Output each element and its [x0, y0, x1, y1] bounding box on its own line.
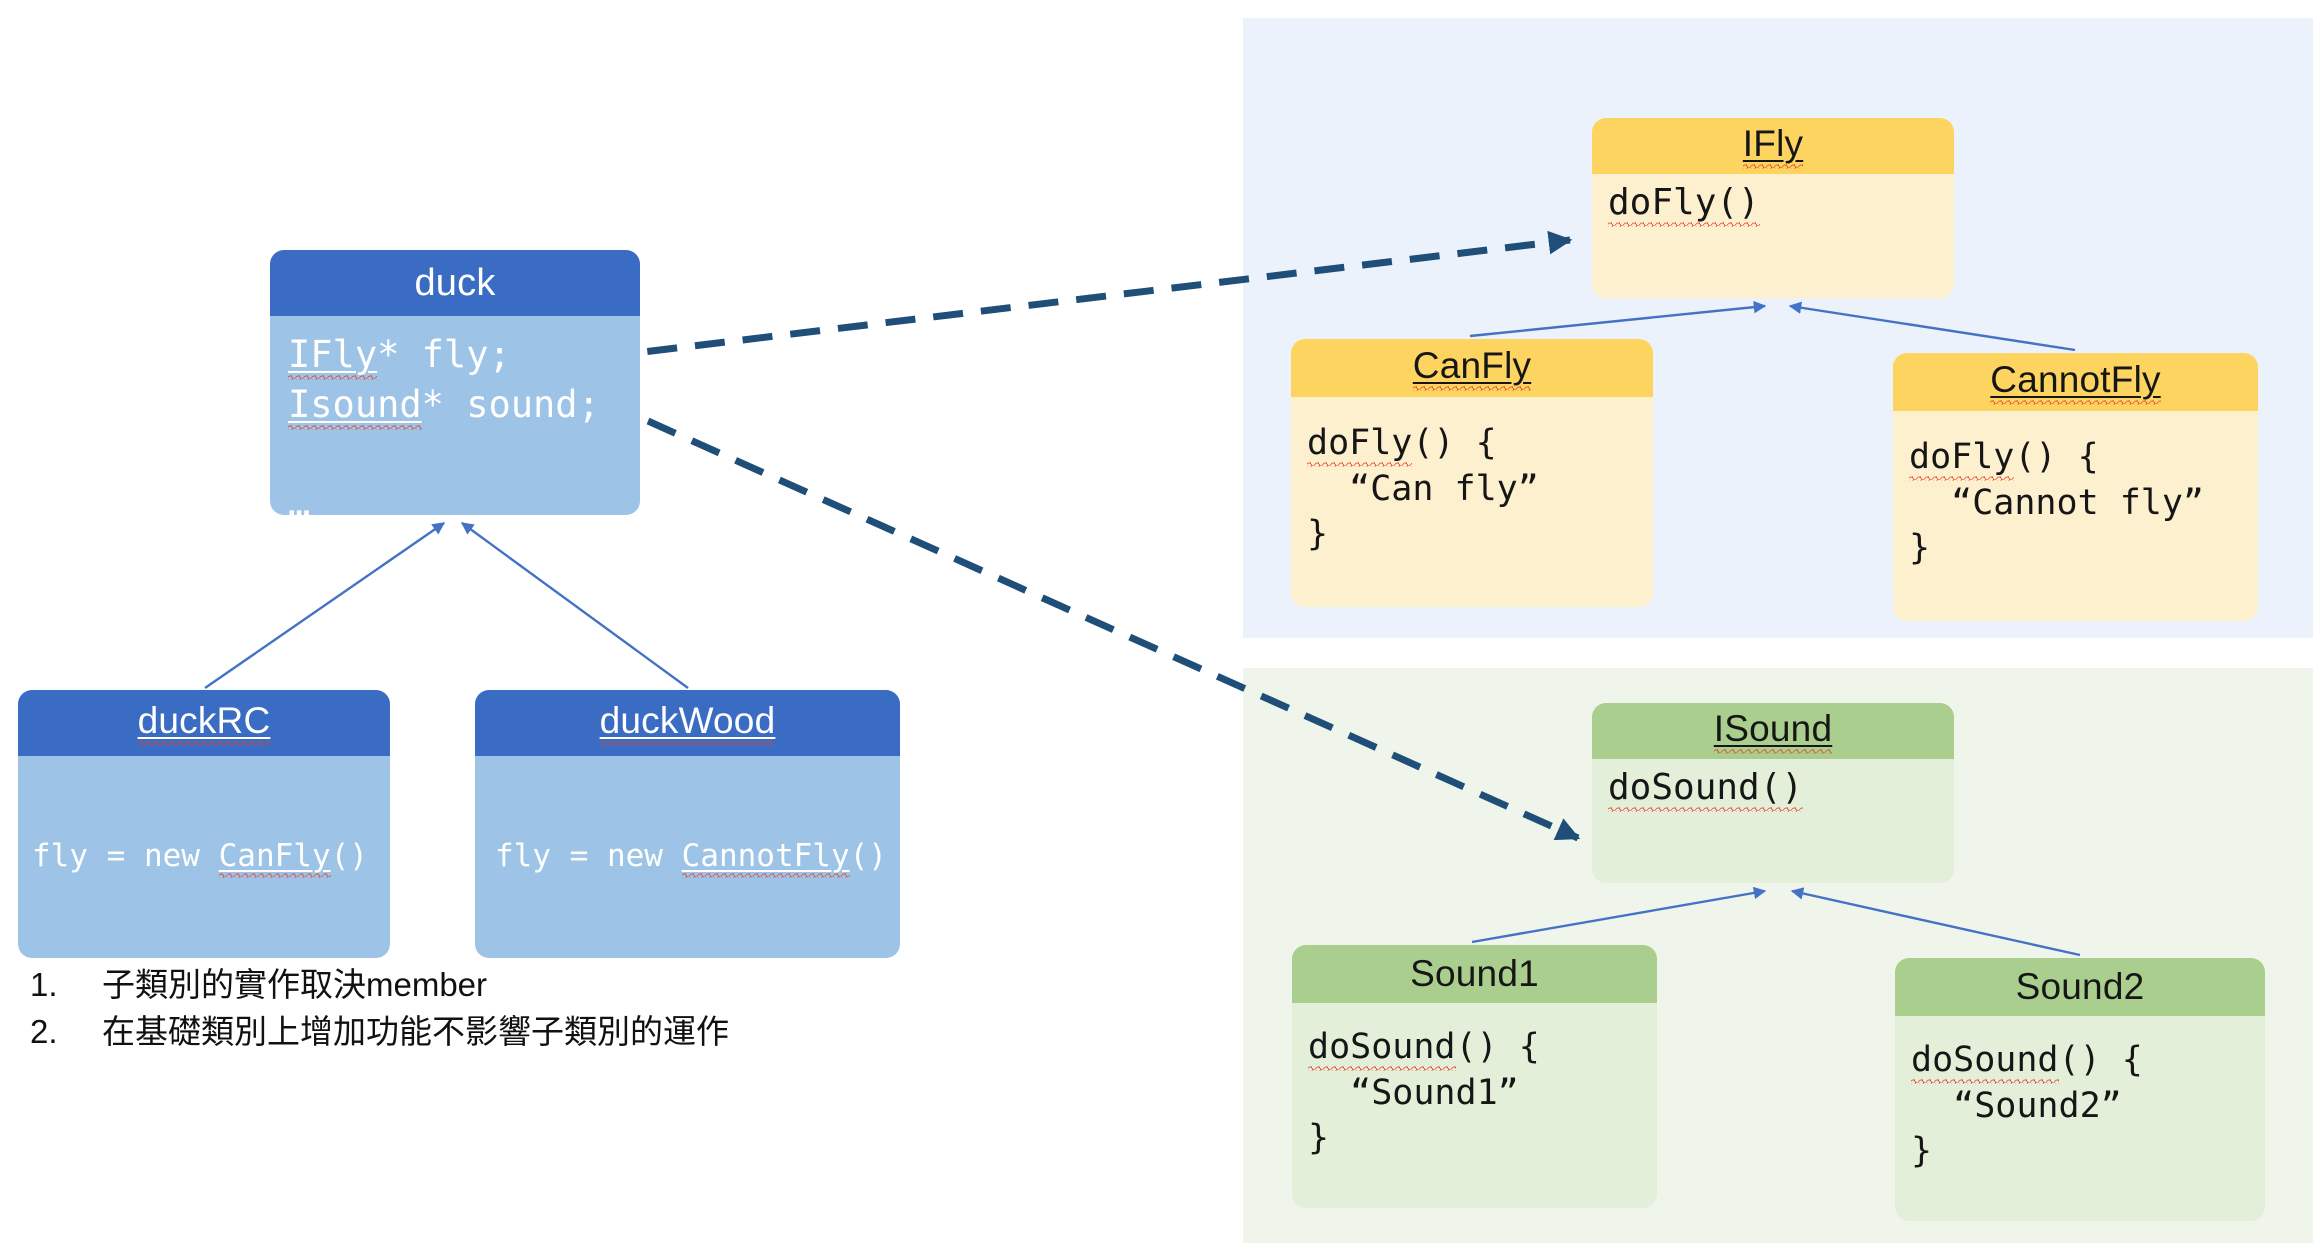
class-title-duckrc: duckRC — [18, 690, 390, 756]
ellipsis-isound: … — [1608, 859, 1630, 883]
member-type-isound[interactable]: Isound — [288, 383, 422, 430]
edge-canfly-to-ifly — [1470, 306, 1765, 336]
member-decl-sound: * sound; — [422, 383, 600, 426]
method-close-cannotfly: } — [1909, 528, 1930, 568]
class-box-duck[interactable]: duck IFly* fly; Isound* sound; … — [270, 250, 640, 515]
class-box-duckwood[interactable]: duckWood fly = new CannotFly() — [475, 690, 900, 958]
class-body-sound1: doSound() { “Sound1” } — [1292, 1003, 1657, 1208]
note-number: 1. — [30, 962, 102, 1009]
member-type-ifly[interactable]: IFly — [288, 333, 377, 380]
member-decl-fly: * fly; — [377, 333, 511, 376]
method-close-canfly: } — [1307, 514, 1328, 554]
class-title-cannotfly-label: CannotFly — [1990, 359, 2160, 405]
class-title-cannotfly: CannotFly — [1893, 353, 2258, 411]
class-title-duckrc-label: duckRC — [138, 700, 271, 746]
edge-cannotfly-to-ifly — [1790, 306, 2075, 350]
edge-sound1-to-isound — [1472, 891, 1765, 942]
class-body-cannotfly: doFly() { “Cannot fly” } — [1893, 411, 2258, 621]
class-title-ifly-label: IFly — [1743, 123, 1803, 169]
class-title-canfly-label: CanFly — [1413, 345, 1531, 391]
class-box-cannotfly[interactable]: CannotFly doFly() { “Cannot fly” } — [1893, 353, 2258, 621]
assign-suffix-duckrc: () — [331, 838, 368, 874]
method-open-sound1: () { — [1456, 1027, 1540, 1067]
diagram-canvas: IFly (dependency, dashed) --> ISound (de… — [0, 0, 2318, 1258]
ellipsis-ifly: … — [1608, 274, 1630, 298]
ctor-link-canfly[interactable]: CanFly — [219, 838, 331, 878]
method-close-sound1: } — [1308, 1118, 1329, 1158]
class-title-sound1-label: Sound1 — [1410, 953, 1539, 995]
assign-prefix-duckrc: fly = new — [32, 838, 219, 874]
method-string-canfly: “Can fly” — [1307, 469, 1539, 509]
class-body-sound2: doSound() { “Sound2” } — [1895, 1016, 2265, 1221]
ellipsis-duck: … — [288, 482, 310, 515]
class-box-canfly[interactable]: CanFly doFly() { “Can fly” } — [1291, 339, 1653, 607]
edge-sound2-to-isound — [1792, 891, 2080, 955]
method-dosound-isound: doSound() — [1608, 767, 1803, 812]
class-title-duck: duck — [270, 250, 640, 316]
class-body-duckwood: fly = new CannotFly() — [475, 756, 900, 958]
method-string-sound2: “Sound2” — [1911, 1086, 2122, 1126]
method-string-cannotfly: “Cannot fly” — [1909, 483, 2204, 523]
class-box-ifly[interactable]: IFly doFly() … — [1592, 118, 1954, 298]
method-open-canfly: () { — [1412, 423, 1496, 463]
method-dofly-ifly: doFly() — [1608, 182, 1760, 227]
assign-suffix-duckwood: () — [850, 838, 887, 874]
class-title-canfly: CanFly — [1291, 339, 1653, 397]
class-body-isound: doSound() … — [1592, 759, 1954, 883]
class-body-canfly: doFly() { “Can fly” } — [1291, 397, 1653, 607]
class-title-duckwood-label: duckWood — [600, 700, 776, 746]
class-title-ifly: IFly — [1592, 118, 1954, 174]
class-body-duckrc: fly = new CanFly() — [18, 756, 390, 958]
note-number: 2. — [30, 1009, 102, 1056]
note-item: 1. 子類別的實作取決member — [30, 962, 930, 1009]
method-name-cannotfly: doFly — [1909, 437, 2014, 481]
method-string-sound1: “Sound1” — [1308, 1073, 1519, 1113]
ctor-link-cannotfly[interactable]: CannotFly — [682, 838, 850, 878]
class-title-sound2: Sound2 — [1895, 958, 2265, 1016]
class-box-sound2[interactable]: Sound2 doSound() { “Sound2” } — [1895, 958, 2265, 1221]
class-body-duck: IFly* fly; Isound* sound; … — [270, 316, 640, 515]
class-title-duck-label: duck — [414, 262, 495, 305]
note-item: 2. 在基礎類別上增加功能不影響子類別的運作 — [30, 1009, 930, 1056]
method-open-sound2: () { — [2059, 1040, 2143, 1080]
notes-list: 1. 子類別的實作取決member 2. 在基礎類別上增加功能不影響子類別的運作 — [30, 962, 930, 1056]
note-text: 在基礎類別上增加功能不影響子類別的運作 — [102, 1009, 930, 1056]
method-name-canfly: doFly — [1307, 423, 1412, 467]
method-open-cannotfly: () { — [2014, 437, 2098, 477]
class-title-sound2-label: Sound2 — [2016, 966, 2145, 1008]
method-name-sound1: doSound — [1308, 1027, 1456, 1071]
class-box-sound1[interactable]: Sound1 doSound() { “Sound1” } — [1292, 945, 1657, 1208]
assign-prefix-duckwood: fly = new — [495, 838, 682, 874]
method-name-sound2: doSound — [1911, 1040, 2059, 1084]
class-title-sound1: Sound1 — [1292, 945, 1657, 1003]
edge-duckwood-to-duck — [462, 523, 688, 688]
edge-duckrc-to-duck — [205, 523, 444, 688]
class-title-isound-label: ISound — [1714, 708, 1832, 754]
class-title-duckwood: duckWood — [475, 690, 900, 756]
class-title-isound: ISound — [1592, 703, 1954, 759]
class-body-ifly: doFly() … — [1592, 174, 1954, 298]
note-text: 子類別的實作取決member — [102, 962, 930, 1009]
class-box-duckrc[interactable]: duckRC fly = new CanFly() — [18, 690, 390, 958]
class-box-isound[interactable]: ISound doSound() … — [1592, 703, 1954, 883]
method-close-sound2: } — [1911, 1131, 1932, 1171]
